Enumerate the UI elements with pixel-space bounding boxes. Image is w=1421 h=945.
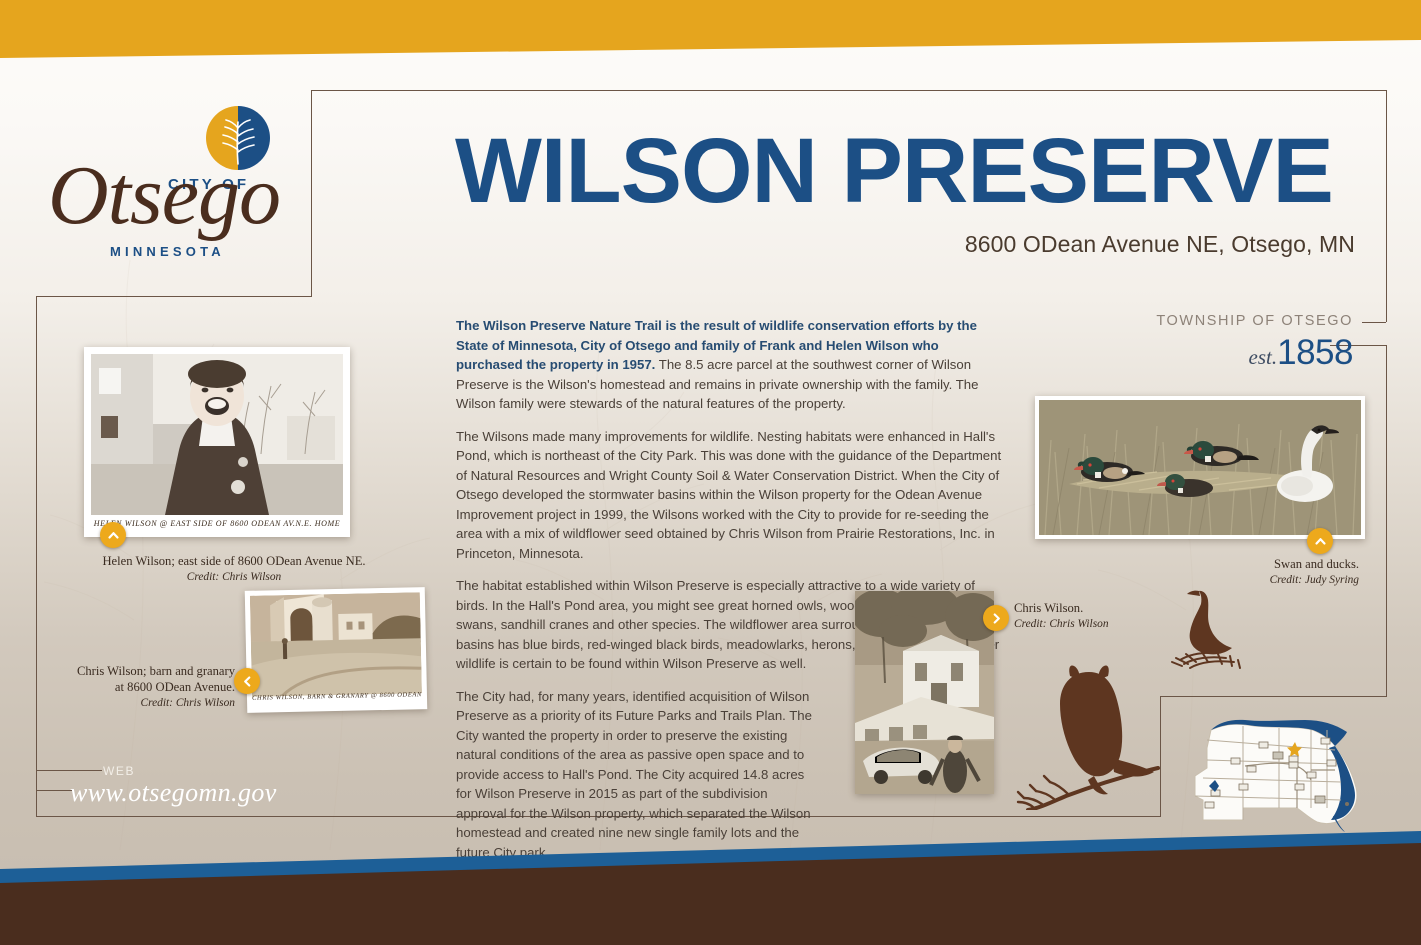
helen-caption-text: Helen Wilson; east side of 8600 ODean Av… [102,554,365,568]
barn-and-granary-photo[interactable]: CHRIS WILSON, BARN & GRANARY @ 8600 ODEA… [245,587,428,713]
frame-rule-title-left [311,90,312,296]
logo-minnesota-text: MINNESOTA [110,244,225,259]
great-horned-owl-silhouette [1012,662,1172,810]
sandhill-crane-silhouette [1168,588,1250,672]
scroll-up-arrow[interactable] [1307,528,1333,554]
helen-wilson-photo-image [91,354,343,515]
helen-wilson-photo[interactable]: HELEN WILSON @ EAST SIDE OF 8600 ODEAN A… [84,347,350,537]
frame-rule-title-top [311,90,1387,91]
swan-and-ducks-photo[interactable] [1035,396,1365,539]
helen-caption-credit: Credit: Chris Wilson [84,569,384,585]
chris-caption-text: Chris Wilson. [1014,601,1083,615]
frame-rule-right [1386,345,1387,697]
est-word: est. [1249,345,1278,369]
est-year: 1858 [1277,333,1353,372]
lede-paragraph: The Wilson Preserve Nature Trail is the … [456,316,1002,414]
frame-rule-web-top [36,770,102,771]
frame-rule-web-bottom [36,790,72,791]
township-label: TOWNSHIP OF OTSEGO [1156,313,1353,329]
swan-photo-caption: Swan and ducks. Credit: Judy Syring [1129,556,1359,588]
helen-photo-caption: Helen Wilson; east side of 8600 ODean Av… [84,553,384,585]
frame-rule-left [36,296,37,816]
interpretive-sign: CITY OF Otsego MINNESOTA WILSON PRESERVE… [0,0,1421,945]
barn-photo-caption: Chris Wilson; barn and granary at 8600 O… [60,663,235,711]
web-url[interactable]: www.otsegomn.gov [70,778,277,808]
swan-caption-text: Swan and ducks. [1274,557,1359,571]
chevron-up-icon [107,529,120,542]
barn-photo-handwriting: CHRIS WILSON, BARN & GRANARY @ 8600 ODEA… [247,691,427,711]
established-block: est.1858 [1249,333,1353,373]
page-subtitle: 8600 ODean Avenue NE, Otsego, MN [455,231,1355,258]
chris-wilson-photo[interactable] [855,591,994,794]
barn-caption-credit: Credit: Chris Wilson [60,695,235,711]
paragraph-4: The City had, for many years, identified… [456,687,816,863]
chevron-right-icon [990,612,1003,625]
title-block: WILSON PRESERVE 8600 ODean Avenue NE, Ot… [455,125,1355,258]
barn-photo-image [250,592,422,697]
otsego-city-map[interactable] [1185,708,1370,833]
scroll-up-arrow[interactable] [100,522,126,548]
chris-wilson-photo-image [855,591,994,794]
chevron-up-icon [1314,535,1327,548]
swan-photo-image [1039,400,1361,535]
previous-arrow[interactable] [234,668,260,694]
frame-rule-mid [1160,696,1386,697]
page-title: WILSON PRESERVE [455,125,1355,217]
chevron-left-icon [241,675,254,688]
logo-otsego-text: Otsego [48,154,298,238]
frame-rule-township [1362,322,1386,323]
swan-caption-credit: Credit: Judy Syring [1129,572,1359,588]
barn-caption-line1: Chris Wilson; barn and granary [77,664,235,678]
city-logo[interactable]: CITY OF Otsego MINNESOTA [48,96,298,276]
barn-caption-line2: at 8600 ODean Avenue. [115,680,235,694]
frame-rule-logo-bottom [36,296,312,297]
next-arrow[interactable] [983,605,1009,631]
web-label: WEB [103,764,135,778]
frame-rule-title-right [1386,90,1387,322]
paragraph-2: The Wilsons made many improvements for w… [456,427,1002,564]
